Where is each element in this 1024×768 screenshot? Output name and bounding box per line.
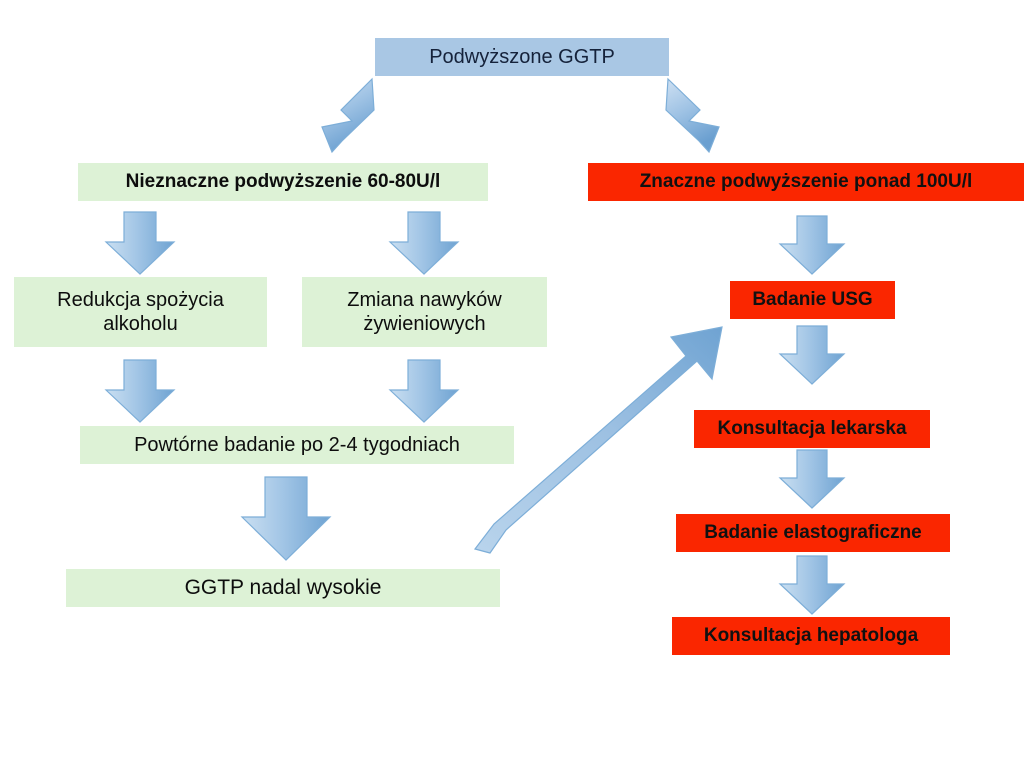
- node-ggtp-still-high-label: GGTP nadal wysokie: [185, 575, 382, 600]
- node-slight-elevation-header[interactable]: Nieznaczne podwyższenie 60-80U/l: [78, 163, 488, 201]
- arrow-to-retest: [106, 360, 174, 422]
- node-ggtp-still-high[interactable]: GGTP nadal wysokie: [66, 569, 500, 607]
- arrow-split-right: [666, 79, 719, 152]
- diagram-canvas: Podwyższone GGTP Nieznaczne podwyższenie…: [0, 0, 1024, 768]
- arrow-split-left: [322, 79, 374, 152]
- node-usg-exam-label: Badanie USG: [752, 289, 872, 312]
- node-usg-exam[interactable]: Badanie USG: [730, 281, 895, 319]
- node-retest-2-4-weeks[interactable]: Powtórne badanie po 2-4 tygodniach: [80, 426, 514, 464]
- node-retest-2-4-weeks-label: Powtórne badanie po 2-4 tygodniach: [134, 433, 460, 457]
- node-hepatologist-consultation-label: Konsultacja hepatologa: [704, 625, 918, 648]
- arrow-to-elastography: [780, 450, 844, 508]
- arrow-to-hepatologist: [780, 556, 844, 614]
- node-elastography-exam-label: Badanie elastograficzne: [704, 522, 922, 545]
- node-elevated-ggtp[interactable]: Podwyższone GGTP: [375, 38, 669, 76]
- arrow-to-medical-consult: [780, 326, 844, 384]
- node-hepatologist-consultation[interactable]: Konsultacja hepatologa: [672, 617, 950, 655]
- arrow-to-diet-retest: [390, 360, 458, 422]
- node-alcohol-reduction[interactable]: Redukcja spożycia alkoholu: [14, 277, 267, 347]
- node-elastography-exam[interactable]: Badanie elastograficzne: [676, 514, 950, 552]
- node-alcohol-reduction-label: Redukcja spożycia alkoholu: [20, 288, 261, 336]
- node-elevated-ggtp-label: Podwyższone GGTP: [429, 45, 615, 69]
- node-slight-elevation-header-label: Nieznaczne podwyższenie 60-80U/l: [126, 171, 441, 194]
- arrow-to-alcohol-reduction: [106, 212, 174, 274]
- node-diet-change[interactable]: Zmiana nawyków żywieniowych: [302, 277, 547, 347]
- node-medical-consultation-label: Konsultacja lekarska: [717, 418, 906, 441]
- arrow-to-diet-change: [390, 212, 458, 274]
- arrow-to-ggtp-still-high: [242, 477, 330, 560]
- node-significant-elevation-header-label: Znaczne podwyższenie ponad 100U/l: [640, 171, 973, 194]
- arrow-to-usg: [780, 216, 844, 274]
- node-diet-change-label: Zmiana nawyków żywieniowych: [308, 288, 541, 336]
- node-medical-consultation[interactable]: Konsultacja lekarska: [694, 410, 930, 448]
- node-significant-elevation-header[interactable]: Znaczne podwyższenie ponad 100U/l: [588, 163, 1024, 201]
